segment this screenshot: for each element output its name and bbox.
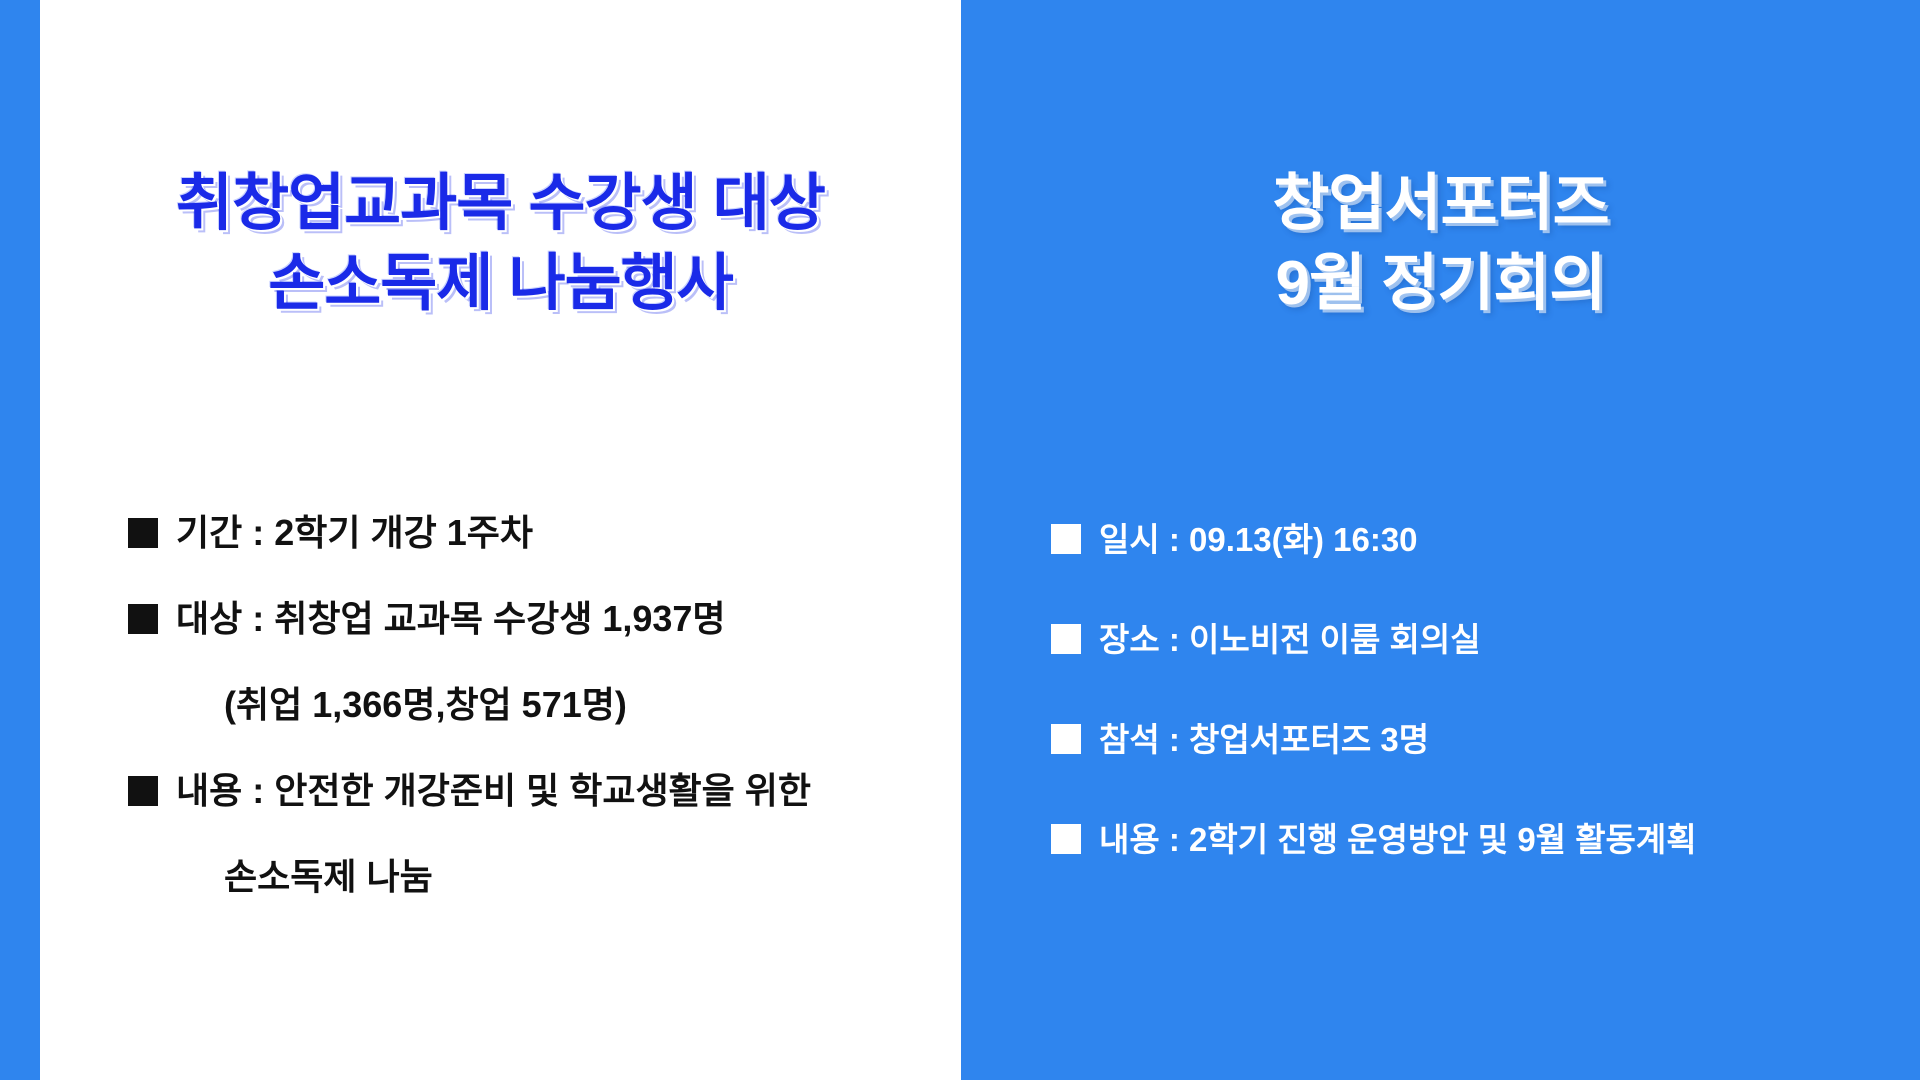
list-item-continuation: 손소독제 나눔 [128, 834, 921, 920]
square-bullet-icon [1051, 624, 1081, 654]
list-item: 기간 : 2학기 개강 1주차 [128, 490, 921, 576]
list-item-text: 장소 : 이노비전 이룸 회의실 [1099, 621, 1481, 658]
list-item: 내용 : 안전한 개강준비 및 학교생활을 위한 [128, 748, 921, 834]
square-bullet-icon [128, 518, 158, 548]
list-item-text: 일시 : 09.13(화) 16:30 [1099, 521, 1418, 558]
list-item: 참석 : 창업서포터즈 3명 [1051, 690, 1920, 790]
list-item-text: 내용 : 안전한 개강준비 및 학교생활을 위한 [176, 770, 811, 811]
slide-canvas: 취창업교과목 수강생 대상 손소독제 나눔행사 기간 : 2학기 개강 1주차 … [0, 0, 1920, 1080]
list-item: 내용 : 2학기 진행 운영방안 및 9월 활동계획 [1051, 790, 1920, 890]
right-panel-bullet-list: 일시 : 09.13(화) 16:30 장소 : 이노비전 이룸 회의실 참석 … [961, 490, 1920, 890]
list-item-text: 손소독제 나눔 [224, 856, 433, 897]
square-bullet-icon [1051, 724, 1081, 754]
list-item-continuation: (취업 1,366명,창업 571명) [128, 662, 921, 748]
left-panel-bullet-list: 기간 : 2학기 개강 1주차 대상 : 취창업 교과목 수강생 1,937명 … [40, 490, 921, 920]
right-panel-title: 창업서포터즈 9월 정기회의 [961, 164, 1920, 325]
list-item: 장소 : 이노비전 이룸 회의실 [1051, 590, 1920, 690]
square-bullet-icon [1051, 524, 1081, 554]
list-item-text: 참석 : 창업서포터즈 3명 [1099, 721, 1429, 758]
left-edge-accent-strip [0, 0, 40, 1080]
list-item-text: 내용 : 2학기 진행 운영방안 및 9월 활동계획 [1099, 821, 1697, 858]
square-bullet-icon [128, 604, 158, 634]
left-panel-title: 취창업교과목 수강생 대상 손소독제 나눔행사 [40, 164, 961, 325]
list-item-text: 대상 : 취창업 교과목 수강생 1,937명 [176, 598, 726, 639]
list-item-text: (취업 1,366명,창업 571명) [224, 684, 627, 725]
square-bullet-icon [128, 776, 158, 806]
list-item-text: 기간 : 2학기 개강 1주차 [176, 512, 533, 553]
list-item: 일시 : 09.13(화) 16:30 [1051, 490, 1920, 590]
square-bullet-icon [1051, 824, 1081, 854]
list-item: 대상 : 취창업 교과목 수강생 1,937명 [128, 576, 921, 662]
